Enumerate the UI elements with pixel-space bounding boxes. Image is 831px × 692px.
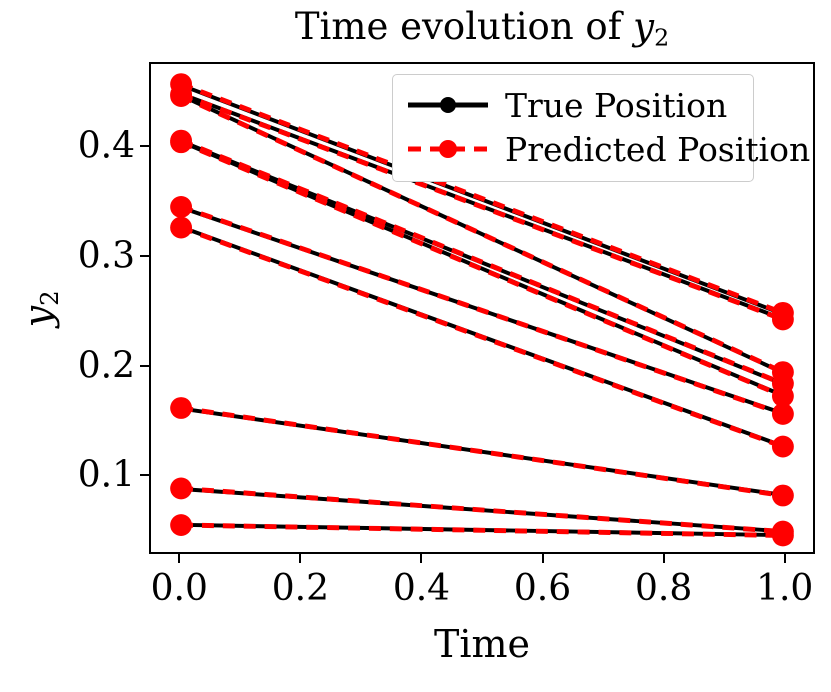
figure-canvas: Time evolution of y2 0.00.20.40.60.81.0 … [0, 0, 831, 692]
legend-item-true-position[interactable]: True Position [405, 83, 741, 127]
legend-label-true-position: True Position [505, 89, 727, 122]
x-tick-label: 0.2 [272, 568, 329, 609]
x-tick-label: 0.6 [514, 568, 571, 609]
data-point-marker [772, 436, 794, 458]
data-point-marker [170, 131, 192, 153]
data-point-marker [170, 514, 192, 536]
chart-title-text: Time evolution of [295, 5, 633, 48]
x-tick-mark [178, 554, 180, 563]
legend-line-icon-predicted-position [405, 134, 491, 164]
data-point-marker [170, 85, 192, 107]
y-tick-label: 0.4 [17, 126, 135, 167]
x-tick-mark [420, 554, 422, 563]
x-tick-mark [299, 554, 301, 563]
data-point-marker [170, 478, 192, 500]
chart-title-variable: y [633, 5, 654, 48]
y-tick-mark [140, 474, 149, 476]
x-tick-mark [784, 554, 786, 563]
legend-item-predicted-position[interactable]: Predicted Position [405, 127, 741, 171]
y-axis-label-variable: y [16, 306, 60, 327]
x-axis-label: Time [149, 622, 815, 666]
x-tick-mark [663, 554, 665, 563]
data-point-marker [772, 309, 794, 331]
data-point-marker [170, 217, 192, 239]
y-axis-label: y2 [16, 249, 64, 369]
x-tick-label: 1.0 [756, 568, 813, 609]
y-tick-mark [140, 255, 149, 257]
data-point-marker [170, 397, 192, 419]
x-tick-label: 0.8 [635, 568, 692, 609]
legend-swatch-predicted [405, 134, 491, 164]
y-tick-mark [140, 365, 149, 367]
legend-line-icon-true-position [405, 90, 491, 120]
x-tick-label: 0.0 [151, 568, 208, 609]
chart-title-subscript: 2 [654, 24, 669, 52]
data-point-marker [772, 403, 794, 425]
legend-label-predicted-position: Predicted Position [505, 133, 810, 166]
y-axis-label-subscript: 2 [35, 290, 64, 305]
y-tick-label: 0.1 [17, 455, 135, 496]
data-point-marker [772, 485, 794, 507]
legend-swatch-true [405, 90, 491, 120]
y-tick-mark [140, 145, 149, 147]
data-point-marker [170, 196, 192, 218]
legend-box: True Position Predicted Position [392, 74, 754, 182]
data-point-marker [772, 525, 794, 547]
x-tick-label: 0.4 [393, 568, 450, 609]
x-tick-mark [542, 554, 544, 563]
page-title: Time evolution of y2 [149, 6, 815, 52]
